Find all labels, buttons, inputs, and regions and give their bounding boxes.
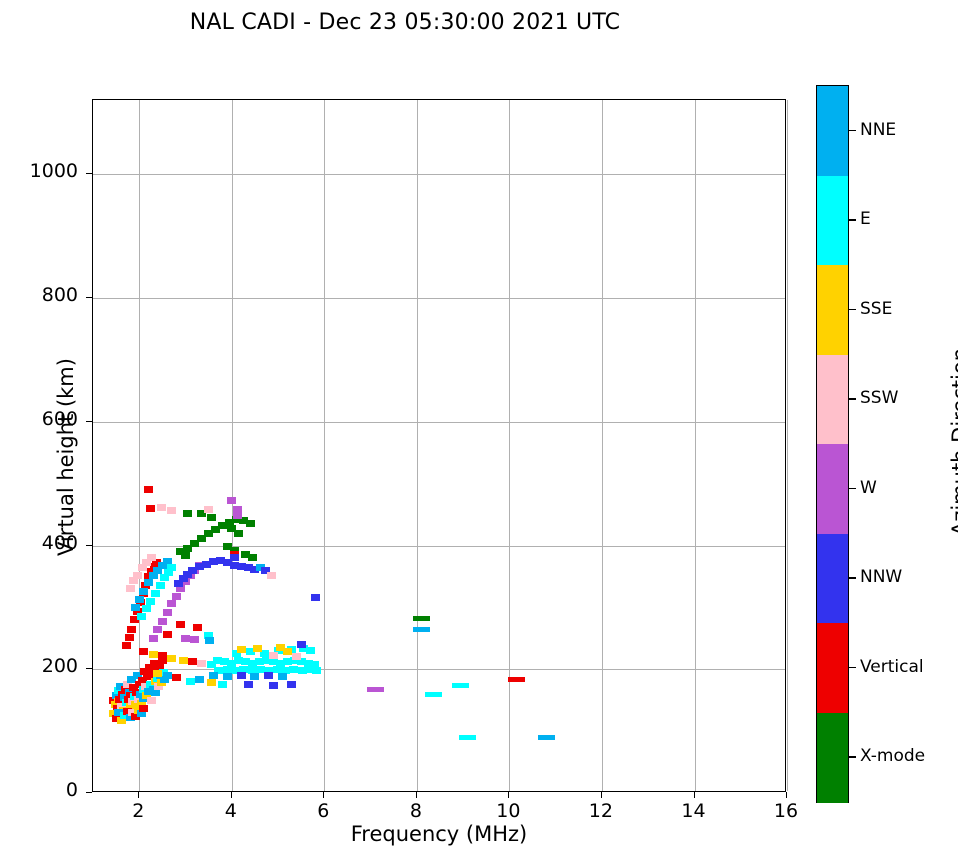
colorbar-tick: [849, 309, 856, 311]
x-axis-tick: [694, 792, 695, 798]
colorbar-label-e: E: [860, 209, 871, 229]
colorbar-tick: [849, 756, 856, 758]
data-point: [146, 598, 155, 605]
data-point: [144, 579, 153, 586]
data-point: [181, 552, 190, 559]
x-axis-tick-label: 10: [478, 800, 538, 822]
x-axis-tick: [786, 792, 787, 798]
data-point: [244, 681, 253, 688]
data-point: [167, 655, 176, 662]
data-point: [197, 660, 206, 667]
data-point: [459, 735, 476, 740]
colorbar-tick: [849, 488, 856, 490]
x-axis-tick: [416, 792, 417, 798]
data-point: [234, 530, 243, 537]
data-point: [125, 634, 134, 641]
data-point: [269, 682, 278, 689]
data-point: [250, 673, 259, 680]
data-point: [267, 572, 276, 579]
data-point: [156, 582, 165, 589]
x-axis-tick-label: 16: [756, 800, 816, 822]
data-point: [205, 637, 214, 644]
data-point: [144, 486, 153, 493]
data-point: [297, 641, 306, 648]
x-axis-tick: [508, 792, 509, 798]
data-point: [413, 627, 430, 632]
data-point: [163, 672, 172, 679]
colorbar-label-x-mode: X-mode: [860, 746, 925, 766]
x-axis-tick: [231, 792, 232, 798]
colorbar-band-nnw[interactable]: [817, 534, 848, 624]
chart-title: NAL CADI - Dec 23 05:30:00 2021 UTC: [0, 10, 810, 35]
x-axis-tick-label: 2: [108, 800, 168, 822]
colorbar-label-sse: SSE: [860, 299, 892, 319]
data-point: [306, 647, 315, 654]
colorbar-label-vertical: Vertical: [860, 657, 924, 677]
gridline-vertical: [787, 100, 788, 791]
data-point: [186, 678, 195, 685]
x-axis-tick: [138, 792, 139, 798]
data-point: [163, 609, 172, 616]
data-point: [181, 635, 190, 642]
data-point: [167, 507, 176, 514]
data-point: [227, 497, 236, 504]
data-point: [233, 512, 242, 519]
x-axis-tick-label: 14: [664, 800, 724, 822]
data-point: [139, 705, 148, 712]
data-point: [158, 652, 167, 659]
colorbar-band-sse[interactable]: [817, 265, 848, 355]
y-axis-tick: [86, 545, 92, 546]
data-point: [137, 613, 146, 620]
data-point: [147, 554, 156, 561]
data-point: [172, 593, 181, 600]
data-point: [151, 590, 160, 597]
data-point: [209, 672, 218, 679]
data-point: [223, 673, 232, 680]
y-axis-tick: [86, 173, 92, 174]
data-point: [413, 616, 430, 621]
data-points-layer: [93, 100, 785, 791]
data-point: [190, 636, 199, 643]
data-point: [158, 618, 167, 625]
data-point: [149, 635, 158, 642]
x-axis-tick-label: 8: [386, 800, 446, 822]
data-point: [248, 554, 257, 561]
colorbar-band-w[interactable]: [817, 444, 848, 534]
data-point: [135, 596, 144, 603]
y-axis-tick: [86, 297, 92, 298]
data-point: [193, 624, 202, 631]
data-point: [176, 621, 185, 628]
data-point: [139, 648, 148, 655]
y-axis-tick-label: 0: [0, 779, 78, 801]
y-axis-tick-label: 200: [0, 655, 78, 677]
colorbar-tick: [849, 219, 856, 221]
data-point: [204, 506, 213, 513]
x-axis-tick: [601, 792, 602, 798]
data-point: [142, 605, 151, 612]
data-point: [253, 645, 262, 652]
data-point: [452, 683, 469, 688]
data-point: [283, 648, 292, 655]
colorbar-tick: [849, 398, 856, 400]
y-axis-tick: [86, 668, 92, 669]
data-point: [230, 554, 239, 561]
data-point: [188, 658, 197, 665]
data-point: [237, 646, 246, 653]
data-point: [508, 677, 525, 682]
data-point: [131, 604, 140, 611]
data-point: [126, 585, 135, 592]
data-point: [172, 674, 181, 681]
x-axis-tick-label: 12: [571, 800, 631, 822]
colorbar-tick: [849, 130, 856, 132]
x-axis-tick: [323, 792, 324, 798]
data-point: [207, 679, 216, 686]
colorbar-tick: [849, 667, 856, 669]
data-point: [269, 652, 278, 659]
data-point: [122, 642, 131, 649]
colorbar-label: Azimuth Direction: [948, 262, 958, 622]
y-axis-label: Virtual height (km): [54, 267, 78, 647]
colorbar-label-ssw: SSW: [860, 388, 898, 408]
data-point: [167, 564, 176, 571]
data-point: [367, 687, 384, 692]
data-point: [207, 514, 216, 521]
data-point: [151, 689, 160, 696]
data-point: [153, 670, 162, 677]
x-axis-label: Frequency (MHz): [92, 822, 786, 846]
data-point: [195, 676, 204, 683]
data-point: [149, 651, 158, 658]
colorbar[interactable]: [816, 85, 849, 803]
colorbar-band-e[interactable]: [817, 176, 848, 266]
data-point: [312, 667, 321, 674]
plot-area: [92, 99, 786, 792]
data-point: [237, 672, 246, 679]
data-point: [183, 510, 192, 517]
ionogram-figure: NAL CADI - Dec 23 05:30:00 2021 UTC 2468…: [0, 0, 958, 857]
data-point: [157, 504, 166, 511]
data-point: [425, 692, 442, 697]
data-point: [311, 594, 320, 601]
data-point: [292, 653, 301, 660]
y-axis-tick: [86, 421, 92, 422]
data-point: [246, 520, 255, 527]
y-axis-tick: [86, 792, 92, 793]
data-point: [127, 626, 136, 633]
data-point: [146, 505, 155, 512]
data-point: [147, 697, 156, 704]
data-point: [139, 588, 148, 595]
colorbar-band-nne[interactable]: [817, 86, 848, 176]
data-point: [163, 631, 172, 638]
data-point: [133, 572, 142, 579]
data-point: [153, 626, 162, 633]
colorbar-tick: [849, 577, 856, 579]
colorbar-label-nne: NNE: [860, 120, 896, 140]
data-point: [179, 657, 188, 664]
colorbar-band-ssw[interactable]: [817, 355, 848, 445]
data-point: [167, 600, 176, 607]
colorbar-band-x-mode[interactable]: [817, 713, 848, 803]
y-axis-tick-label: 1000: [0, 160, 78, 182]
colorbar-label-w: W: [860, 478, 877, 498]
colorbar-label-nnw: NNW: [860, 567, 902, 587]
x-axis-tick-label: 6: [293, 800, 353, 822]
data-point: [264, 672, 273, 679]
data-point: [278, 673, 287, 680]
x-axis-tick-label: 4: [201, 800, 261, 822]
data-point: [538, 735, 555, 740]
data-point: [218, 681, 227, 688]
data-point: [287, 681, 296, 688]
colorbar-band-vertical[interactable]: [817, 623, 848, 713]
